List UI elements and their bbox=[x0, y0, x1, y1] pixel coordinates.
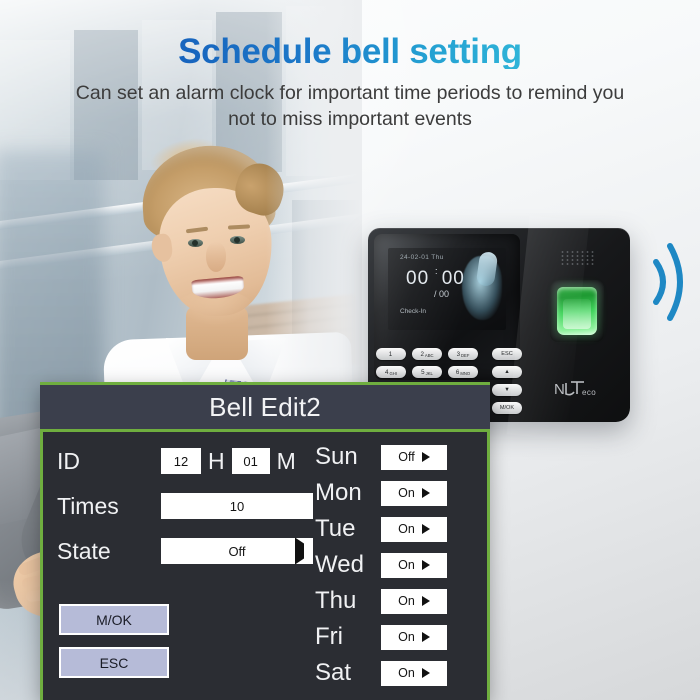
times-field[interactable]: 10 bbox=[161, 493, 313, 519]
label-state: State bbox=[57, 538, 161, 565]
day-toggle-value: On bbox=[398, 486, 415, 500]
device-side-keys: ESC ▲ ▼ M/OK bbox=[492, 348, 526, 418]
chevron-right-icon bbox=[422, 560, 430, 570]
state-select[interactable]: Off bbox=[161, 538, 313, 564]
day-row-sat: Sat On bbox=[315, 655, 485, 691]
mok-key[interactable]: M/OK bbox=[492, 402, 522, 414]
key-digit: 6 bbox=[456, 369, 459, 376]
brand-logo: N eco bbox=[554, 378, 620, 400]
svg-text:N: N bbox=[554, 381, 565, 398]
key-letters: MNO bbox=[460, 371, 470, 376]
key-digit: 5 bbox=[421, 369, 424, 376]
day-toggle-fri[interactable]: On bbox=[381, 625, 447, 650]
speaker-grille-icon bbox=[560, 250, 594, 266]
state-value: Off bbox=[228, 544, 245, 559]
esc-button[interactable]: ESC bbox=[59, 647, 169, 678]
signal-waves-icon bbox=[648, 232, 694, 332]
day-row-mon: Mon On bbox=[315, 475, 485, 511]
day-label: Wed bbox=[315, 551, 381, 579]
minute-unit-label: M bbox=[277, 448, 296, 475]
chevron-right-icon bbox=[422, 452, 430, 462]
chevron-right-icon bbox=[295, 544, 304, 559]
panel-buttons: M/OK ESC bbox=[59, 604, 169, 690]
day-row-tue: Tue On bbox=[315, 511, 485, 547]
day-row-fri: Fri On bbox=[315, 619, 485, 655]
day-toggle-value: Off bbox=[398, 450, 414, 464]
screen-date: 24-02-01 Thu bbox=[400, 254, 444, 261]
row-id: ID 12 H 01 M bbox=[57, 443, 327, 479]
day-toggle-thu[interactable]: On bbox=[381, 589, 447, 614]
day-row-thu: Thu On bbox=[315, 583, 485, 619]
screenshot-stage: Schedule bell setting Can set an alarm c… bbox=[0, 0, 700, 700]
day-toggle-mon[interactable]: On bbox=[381, 481, 447, 506]
chevron-right-icon bbox=[422, 668, 430, 678]
screen-colon: : bbox=[435, 266, 438, 276]
day-toggle-value: On bbox=[398, 630, 415, 644]
key-digit: 1 bbox=[389, 351, 392, 358]
svg-text:eco: eco bbox=[582, 388, 596, 397]
day-label: Sun bbox=[315, 443, 381, 471]
minute-field[interactable]: 01 bbox=[232, 448, 270, 474]
day-toggle-tue[interactable]: On bbox=[381, 517, 447, 542]
row-times: Times 10 bbox=[57, 488, 327, 524]
device-screen: 24-02-01 Thu 00 00 : / 00 Check-In bbox=[388, 248, 506, 330]
day-label: Tue bbox=[315, 515, 381, 543]
key-5[interactable]: 5JKL bbox=[412, 366, 442, 378]
key-letters: ABC bbox=[425, 353, 434, 358]
chevron-right-icon bbox=[422, 488, 430, 498]
key-1[interactable]: 1 bbox=[376, 348, 406, 360]
key-2[interactable]: 2ABC bbox=[412, 348, 442, 360]
day-toggle-value: On bbox=[398, 558, 415, 572]
key-letters: DEF bbox=[461, 353, 469, 358]
day-label: Fri bbox=[315, 623, 381, 651]
day-row-sun: Sun Off bbox=[315, 439, 485, 475]
key-digit: 2 bbox=[420, 351, 423, 358]
key-letters: JKL bbox=[426, 371, 433, 376]
key-6[interactable]: 6MNO bbox=[448, 366, 478, 378]
nose bbox=[206, 242, 226, 272]
day-row-wed: Wed On bbox=[315, 547, 485, 583]
row-state: State Off bbox=[57, 533, 327, 569]
day-toggle-wed[interactable]: On bbox=[381, 553, 447, 578]
page-subtitle: Can set an alarm clock for important tim… bbox=[70, 80, 630, 133]
key-digit: 3 bbox=[457, 351, 460, 358]
heading-block: Schedule bell setting Can set an alarm c… bbox=[0, 34, 700, 133]
arrow-up-key[interactable]: ▲ bbox=[492, 366, 522, 378]
panel-title: Bell Edit2 bbox=[209, 392, 321, 423]
weekday-column: Sun Off Mon On Tue On bbox=[315, 439, 485, 691]
panel-header: Bell Edit2 bbox=[40, 382, 490, 432]
esc-key[interactable]: ESC bbox=[492, 348, 522, 360]
screen-status: Check-In bbox=[400, 308, 426, 315]
key-digit: 4 bbox=[385, 369, 388, 376]
fingerprint-sensor[interactable] bbox=[550, 280, 604, 342]
key-4[interactable]: 4GHI bbox=[376, 366, 406, 378]
day-toggle-sat[interactable]: On bbox=[381, 661, 447, 686]
panel-body: ID 12 H 01 M Times 10 State Off bbox=[43, 429, 487, 700]
bell-edit-panel: Bell Edit2 ID 12 H 01 M Times 10 State bbox=[40, 382, 490, 700]
chevron-right-icon bbox=[422, 524, 430, 534]
eye bbox=[230, 236, 245, 244]
mok-button[interactable]: M/OK bbox=[59, 604, 169, 635]
day-toggle-sun[interactable]: Off bbox=[381, 445, 447, 470]
arrow-down-key[interactable]: ▼ bbox=[492, 384, 522, 396]
page-title: Schedule bell setting bbox=[178, 34, 522, 69]
key-letters: GHI bbox=[390, 371, 397, 376]
screen-seconds: / 00 bbox=[434, 289, 449, 299]
key-3[interactable]: 3DEF bbox=[448, 348, 478, 360]
day-toggle-value: On bbox=[398, 666, 415, 680]
day-toggle-value: On bbox=[398, 522, 415, 536]
chevron-right-icon bbox=[422, 596, 430, 606]
day-label: Thu bbox=[315, 587, 381, 615]
hour-field[interactable]: 12 bbox=[161, 448, 201, 474]
label-times: Times bbox=[57, 493, 161, 520]
hour-unit-label: H bbox=[208, 448, 225, 475]
fingerprint-sensor-window bbox=[557, 287, 597, 335]
day-label: Sat bbox=[315, 659, 381, 687]
day-toggle-value: On bbox=[398, 594, 415, 608]
chevron-right-icon bbox=[422, 632, 430, 642]
settings-column: ID 12 H 01 M Times 10 State Off bbox=[57, 443, 327, 578]
eye bbox=[188, 239, 203, 247]
label-id: ID bbox=[57, 448, 161, 475]
day-label: Mon bbox=[315, 479, 381, 507]
screen-hours: 00 bbox=[406, 268, 429, 289]
